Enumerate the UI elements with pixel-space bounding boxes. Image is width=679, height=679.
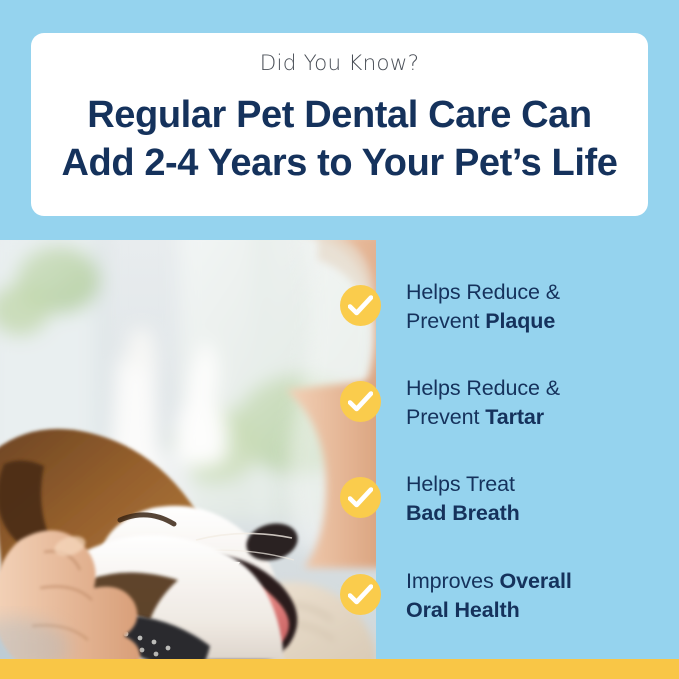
list-item: Helps Reduce & Prevent Plaque — [336, 278, 679, 356]
check-circle-icon — [340, 574, 381, 615]
benefit-line-2-regular: Prevent — [406, 405, 485, 429]
check-circle-icon — [340, 285, 381, 326]
benefit-text: Improves Overall Oral Health — [406, 567, 676, 625]
eyebrow-text: Did You Know? — [53, 51, 626, 77]
bottom-accent-band — [0, 659, 679, 679]
benefit-line-2-bold: Oral Health — [406, 598, 520, 622]
list-item: Helps Reduce & Prevent Tartar — [336, 374, 679, 452]
check-icon — [348, 584, 373, 605]
headline-card: Did You Know? Regular Pet Dental Care Ca… — [31, 33, 648, 216]
promo-poster: Did You Know? Regular Pet Dental Care Ca… — [0, 0, 679, 679]
benefit-line-1: Improves Overall — [406, 567, 676, 596]
check-icon — [348, 295, 373, 316]
benefit-line-2: Prevent Tartar — [406, 403, 676, 432]
benefit-line-2-regular: Prevent — [406, 309, 485, 333]
benefit-line-1: Helps Reduce & — [406, 374, 676, 403]
benefit-line-1-regular: Improves — [406, 569, 500, 593]
list-item: Helps Treat Bad Breath — [336, 470, 679, 548]
benefits-list: Helps Reduce & Prevent Plaque Helps Redu… — [336, 278, 679, 628]
list-item: Improves Overall Oral Health — [336, 567, 679, 645]
benefit-line-1: Helps Treat — [406, 470, 676, 499]
dog-and-owner-photo — [0, 240, 376, 661]
benefit-line-2: Oral Health — [406, 596, 676, 625]
benefit-line-2: Prevent Plaque — [406, 307, 676, 336]
benefit-text: Helps Treat Bad Breath — [406, 470, 676, 528]
check-icon — [348, 391, 373, 412]
benefit-line-2: Bad Breath — [406, 499, 676, 528]
benefit-text: Helps Reduce & Prevent Tartar — [406, 374, 676, 432]
photo-illustration — [0, 240, 376, 661]
benefit-line-2-bold: Plaque — [485, 309, 555, 333]
headline-line-2: Add 2-4 Years to Your Pet’s Life — [53, 139, 626, 188]
headline-line-1: Regular Pet Dental Care Can — [53, 91, 626, 140]
benefit-line-2-bold: Bad Breath — [406, 501, 520, 525]
page-title: Regular Pet Dental Care Can Add 2-4 Year… — [53, 91, 626, 188]
benefit-line-1-bold: Overall — [500, 569, 572, 593]
benefit-line-1: Helps Reduce & — [406, 278, 676, 307]
benefit-text: Helps Reduce & Prevent Plaque — [406, 278, 676, 336]
check-circle-icon — [340, 477, 381, 518]
check-icon — [348, 487, 373, 508]
benefit-line-2-bold: Tartar — [485, 405, 544, 429]
check-circle-icon — [340, 381, 381, 422]
